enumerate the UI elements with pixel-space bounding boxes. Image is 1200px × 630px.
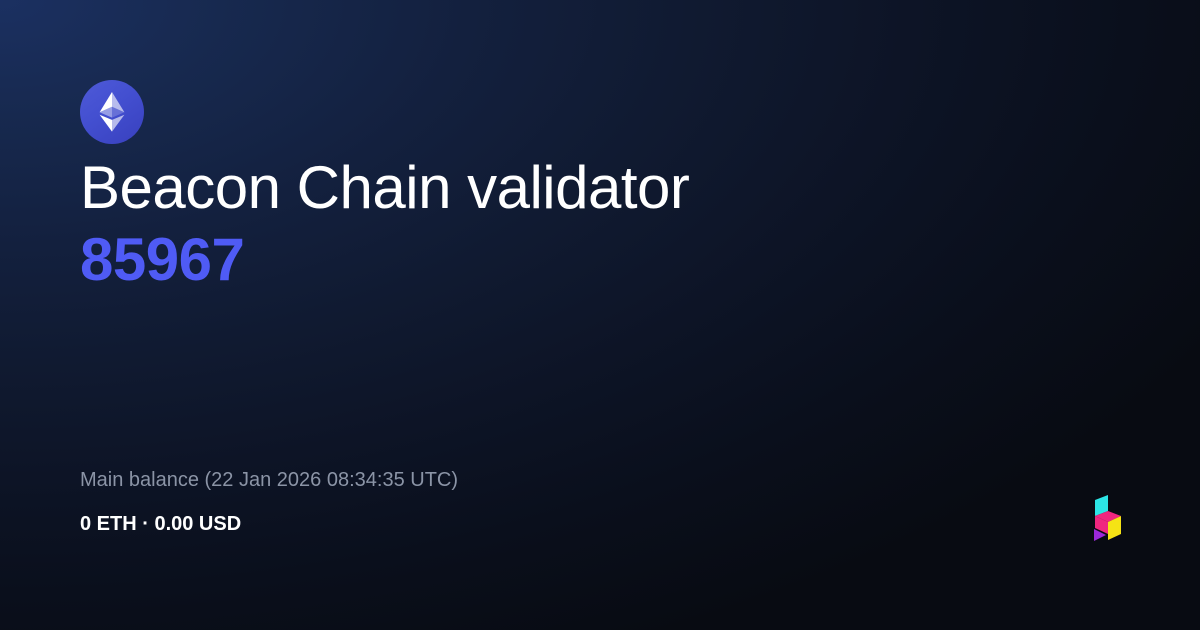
balance-value: 0 ETH · 0.00 USD: [80, 510, 458, 538]
balance-summary: Main balance (22 Jan 2026 08:34:35 UTC) …: [80, 466, 458, 538]
balance-label: Main balance (22 Jan 2026 08:34:35 UTC): [80, 466, 458, 494]
ethereum-token-badge: [80, 80, 144, 144]
page-title: Beacon Chain validator 85967: [80, 152, 1080, 296]
blockscout-logo-icon: [1088, 494, 1124, 552]
ethereum-icon: [99, 92, 125, 132]
validator-id: 85967: [80, 224, 1080, 296]
og-preview-card: Beacon Chain validator 85967 Main balanc…: [0, 0, 1200, 630]
page-title-text: Beacon Chain validator: [80, 152, 1080, 224]
